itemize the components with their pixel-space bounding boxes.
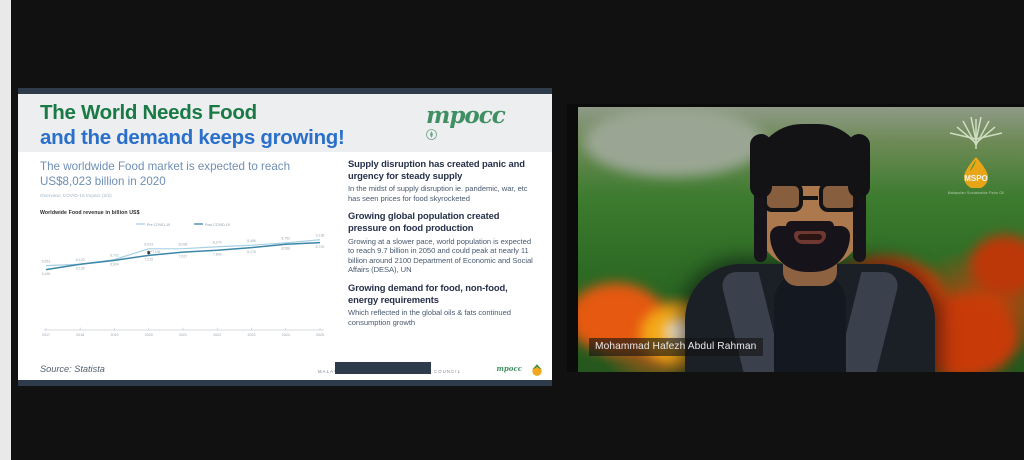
participant-video-tile[interactable]: MSPO Malaysian Sustainable Palm Oil Moha… [567, 104, 1024, 372]
chart-title: Worldwide Food revenue in billion US$ [40, 210, 332, 216]
slide-title-line-1: The World Needs Food [40, 100, 345, 125]
svg-text:2022: 2022 [213, 333, 221, 337]
right-block-1-heading: Supply disruption has created panic and … [348, 158, 534, 181]
svg-text:2017: 2017 [42, 333, 50, 337]
right-block-2-body: Growing at a slower pace, world populati… [348, 237, 534, 275]
slide-footer: Source: Statista MALAYSIAN PALM OIL CERT… [18, 362, 552, 380]
svg-text:7,842: 7,842 [213, 252, 222, 256]
hair-side-left [750, 134, 772, 198]
svg-text:Post COVID-19: Post COVID-19 [205, 223, 230, 227]
svg-text:8,023: 8,023 [144, 243, 153, 247]
svg-text:6,604: 6,604 [110, 263, 119, 267]
svg-text:6,126: 6,126 [76, 266, 85, 270]
svg-text:8,792: 8,792 [316, 245, 325, 249]
svg-text:2019: 2019 [111, 333, 119, 337]
slide-kicker-text: The worldwide Food market is expected to… [40, 160, 332, 189]
mspo-watermark: MSPO Malaysian Sustainable Palm Oil [946, 113, 1006, 197]
mpocc-logo-subtext [426, 129, 518, 140]
footer-mpocc-wordmark: mpocc [497, 364, 523, 373]
chart-svg: Pre COVID-19Post COVID-195,9516,1206,702… [40, 218, 328, 338]
right-block-3-body: Which reflected in the global oils & fat… [348, 308, 534, 327]
svg-text:8,466: 8,466 [247, 239, 256, 243]
svg-text:+7.1%: +7.1% [150, 250, 160, 254]
right-block-3: Growing demand for food, non-food, energ… [348, 282, 534, 327]
jacket-lapel-right [836, 272, 901, 372]
participant-name-label: Mohammad Hafezh Abdul Rahman [589, 338, 763, 356]
svg-text:2025: 2025 [316, 333, 324, 337]
palm-fronds-icon [947, 113, 1005, 149]
svg-text:6,702: 6,702 [110, 253, 119, 257]
mouth-interior [798, 234, 822, 240]
svg-text:8,176: 8,176 [247, 250, 256, 254]
presentation-slide[interactable]: The World Needs Food and the demand keep… [18, 88, 552, 386]
moustache [786, 221, 834, 231]
footer-mspo-seal-icon [530, 363, 544, 377]
slide-header: The World Needs Food and the demand keep… [18, 94, 552, 152]
slide-right-column: Supply disruption has created panic and … [348, 158, 534, 334]
slide-left-column: The worldwide Food market is expected to… [40, 160, 332, 338]
mouth [794, 231, 826, 244]
left-screen-edge-strip [0, 0, 11, 460]
right-block-3-heading: Growing demand for food, non-food, energ… [348, 282, 534, 305]
svg-text:MSPO: MSPO [964, 174, 988, 183]
slide-kicker-source: Overview: COVID-19 Impact (2/2) [40, 193, 332, 198]
svg-text:2018: 2018 [76, 333, 84, 337]
right-block-2: Growing global population created pressu… [348, 210, 534, 275]
footer-occlusion-overlay [335, 362, 431, 374]
mspo-watermark-caption: Malaysian Sustainable Palm Oil [946, 191, 1006, 195]
hair-side-right [848, 134, 870, 198]
svg-text:2020: 2020 [145, 333, 153, 337]
svg-text:8,752: 8,752 [281, 237, 290, 241]
background-haze-blob [584, 107, 764, 177]
svg-text:Pre COVID-19: Pre COVID-19 [147, 223, 170, 227]
mspo-droplet-svg: MSPO [961, 156, 991, 188]
slide-title-line-2: and the demand keeps growing! [40, 125, 345, 150]
svg-text:8,588: 8,588 [281, 246, 290, 250]
svg-text:8,274: 8,274 [213, 241, 222, 245]
revenue-line-chart: Pre COVID-19Post COVID-195,9516,1206,702… [40, 218, 328, 338]
svg-text:7,617: 7,617 [179, 254, 188, 258]
svg-text:8,038: 8,038 [179, 242, 188, 246]
mpocc-emblem-icon [426, 129, 437, 140]
meeting-stage: The World Needs Food and the demand keep… [11, 0, 1024, 460]
slide-title: The World Needs Food and the demand keep… [40, 100, 345, 150]
hair [754, 124, 866, 186]
chart-source-note: Source: Statista [40, 364, 105, 374]
svg-text:2024: 2024 [282, 333, 290, 337]
slide-body: The worldwide Food market is expected to… [18, 152, 552, 362]
video-frame: MSPO Malaysian Sustainable Palm Oil Moha… [578, 107, 1024, 372]
right-block-1: Supply disruption has created panic and … [348, 158, 534, 203]
svg-text:5,951: 5,951 [42, 259, 51, 263]
palm-fruit-blob [970, 235, 1024, 295]
svg-text:7,215: 7,215 [144, 258, 153, 262]
svg-text:9,138: 9,138 [316, 234, 325, 238]
svg-text:6,120: 6,120 [76, 258, 85, 262]
svg-text:2021: 2021 [179, 333, 187, 337]
eyeglasses-bridge [802, 196, 818, 200]
svg-text:5,460: 5,460 [42, 272, 51, 276]
right-block-2-heading: Growing global population created pressu… [348, 210, 534, 233]
shirt [774, 272, 846, 372]
mpocc-logo: mpocc [426, 104, 518, 148]
mpocc-wordmark: mpocc [426, 104, 518, 128]
svg-text:2023: 2023 [248, 333, 256, 337]
slide-bottom-accent-bar [18, 380, 552, 386]
right-block-1-body: In the midst of supply disruption ie. pa… [348, 184, 534, 203]
mspo-droplet-icon: MSPO [961, 156, 991, 188]
